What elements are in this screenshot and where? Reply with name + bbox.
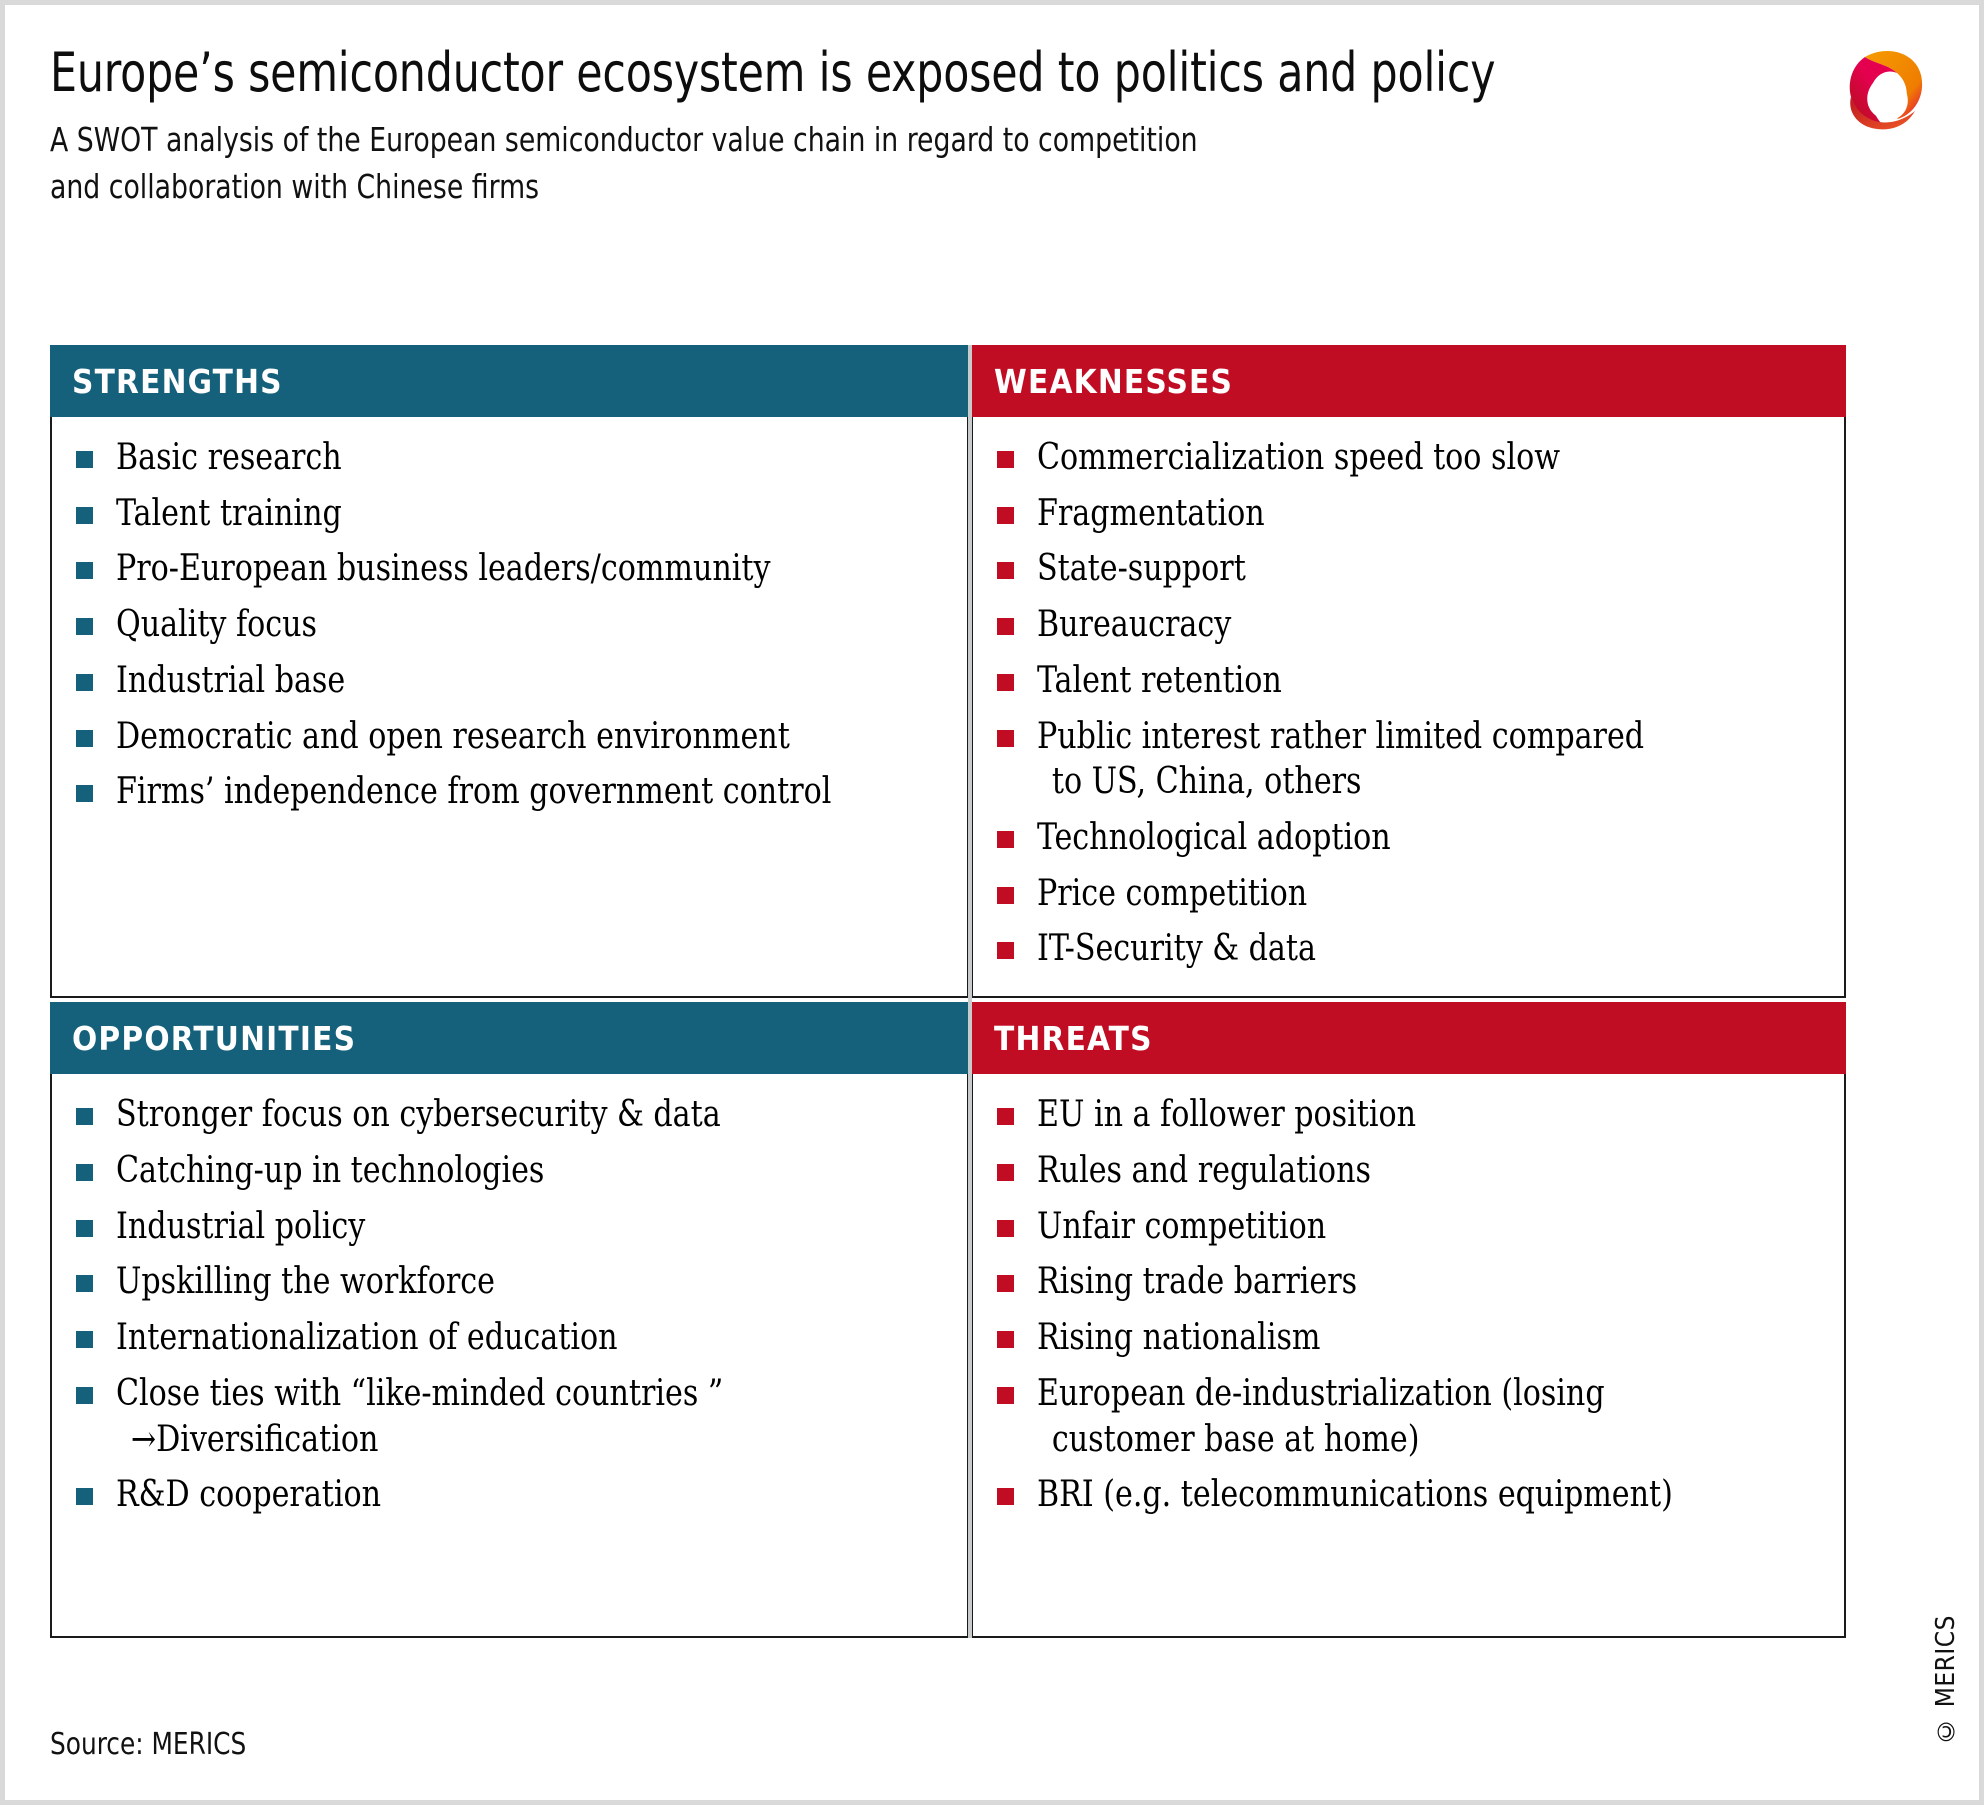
list-item-label: Talent training — [116, 491, 893, 537]
list-item-label: Firms’ independence from government cont… — [116, 769, 893, 815]
square-bullet-icon — [76, 1108, 93, 1125]
quadrant-strengths: STRENGTHS Basic research Talent training… — [50, 345, 968, 998]
square-bullet-icon — [997, 942, 1014, 959]
list-item: BRI (e.g. telecommunications equipment) — [993, 1472, 1828, 1518]
list-item: Quality focus — [72, 602, 951, 648]
threats-list: EU in a follower position Rules and regu… — [993, 1092, 1828, 1518]
list-item-line-1: Close ties with “like-minded countries ” — [116, 1373, 723, 1414]
square-bullet-icon — [76, 1164, 93, 1181]
list-item: Firms’ independence from government cont… — [72, 769, 951, 815]
weaknesses-list: Commercialization speed too slow Fragmen… — [993, 435, 1828, 972]
list-item-label: Rising trade barriers — [1037, 1259, 1773, 1305]
list-item: Catching-up in technologies — [72, 1148, 951, 1194]
list-item-label: Close ties with “like-minded countries ”… — [116, 1371, 893, 1462]
quadrant-weaknesses: WEAKNESSES Commercialization speed too s… — [972, 345, 1846, 998]
quadrant-header-weaknesses: WEAKNESSES — [972, 345, 1846, 417]
merics-logo-icon — [1831, 41, 1939, 141]
list-item: Rising nationalism — [993, 1315, 1828, 1361]
list-item-label: Pro-European business leaders/community — [116, 546, 893, 592]
list-item-line-1: Public interest rather limited compared — [1037, 716, 1644, 757]
list-item: Fragmentation — [993, 491, 1828, 537]
list-item: Stronger focus on cybersecurity & data — [72, 1092, 951, 1138]
square-bullet-icon — [76, 674, 93, 691]
list-item-label: Rules and regulations — [1037, 1148, 1773, 1194]
list-item-label: Basic research — [116, 435, 893, 481]
infographic-page: Europe’s semiconductor ecosystem is expo… — [0, 0, 1984, 1805]
square-bullet-icon — [76, 1488, 93, 1505]
list-item: European de-industrialization (losingcus… — [993, 1371, 1828, 1462]
list-item: Upskilling the workforce — [72, 1259, 951, 1305]
square-bullet-icon — [76, 1387, 93, 1404]
list-item: IT-Security & data — [993, 926, 1828, 972]
square-bullet-icon — [997, 674, 1014, 691]
list-item: Rules and regulations — [993, 1148, 1828, 1194]
list-item-label: Technological adoption — [1037, 815, 1773, 861]
square-bullet-icon — [76, 785, 93, 802]
square-bullet-icon — [997, 831, 1014, 848]
list-item-label: Democratic and open research environment — [116, 714, 893, 760]
list-item-label: EU in a follower position — [1037, 1092, 1773, 1138]
square-bullet-icon — [997, 507, 1014, 524]
square-bullet-icon — [997, 562, 1014, 579]
square-bullet-icon — [76, 618, 93, 635]
list-item: Public interest rather limited comparedt… — [993, 714, 1828, 805]
list-item-label: R&D cooperation — [116, 1472, 893, 1518]
list-item: Talent training — [72, 491, 951, 537]
square-bullet-icon — [997, 1387, 1014, 1404]
list-item-label: Unfair competition — [1037, 1204, 1773, 1250]
list-item-label: BRI (e.g. telecommunications equipment) — [1037, 1472, 1773, 1518]
square-bullet-icon — [76, 451, 93, 468]
list-item: Industrial base — [72, 658, 951, 704]
list-item-label: Fragmentation — [1037, 491, 1773, 537]
page-header: Europe’s semiconductor ecosystem is expo… — [50, 43, 1850, 211]
list-item-label: Public interest rather limited comparedt… — [1037, 714, 1773, 805]
list-item-label: Talent retention — [1037, 658, 1773, 704]
list-item-label: Commercialization speed too slow — [1037, 435, 1773, 481]
list-item: Industrial policy — [72, 1204, 951, 1250]
square-bullet-icon — [76, 1275, 93, 1292]
list-item: Unfair competition — [993, 1204, 1828, 1250]
list-item: Talent retention — [993, 658, 1828, 704]
square-bullet-icon — [997, 887, 1014, 904]
list-item: Pro-European business leaders/community — [72, 546, 951, 592]
square-bullet-icon — [997, 1275, 1014, 1292]
source-note: Source: MERICS — [50, 1727, 246, 1762]
square-bullet-icon — [997, 1164, 1014, 1181]
opportunities-list: Stronger focus on cybersecurity & data C… — [72, 1092, 951, 1518]
square-bullet-icon — [76, 562, 93, 579]
list-item: EU in a follower position — [993, 1092, 1828, 1138]
list-item: Close ties with “like-minded countries ”… — [72, 1371, 951, 1462]
list-item-label: Rising nationalism — [1037, 1315, 1773, 1361]
quadrant-header-strengths: STRENGTHS — [50, 345, 968, 417]
page-subtitle-line-1: A SWOT analysis of the European semicond… — [50, 117, 1670, 164]
list-item: Rising trade barriers — [993, 1259, 1828, 1305]
list-item-label: Bureaucracy — [1037, 602, 1773, 648]
quadrant-opportunities: OPPORTUNITIES Stronger focus on cybersec… — [50, 1002, 968, 1638]
list-item-label: Internationalization of education — [116, 1315, 893, 1361]
quadrant-body-threats: EU in a follower position Rules and regu… — [972, 1074, 1846, 1638]
list-item: Technological adoption — [993, 815, 1828, 861]
list-item-label: Industrial policy — [116, 1204, 893, 1250]
square-bullet-icon — [997, 1108, 1014, 1125]
square-bullet-icon — [997, 1488, 1014, 1505]
list-item-label: Upskilling the workforce — [116, 1259, 893, 1305]
strengths-list: Basic research Talent training Pro-Europ… — [72, 435, 951, 815]
square-bullet-icon — [997, 1331, 1014, 1348]
list-item: R&D cooperation — [72, 1472, 951, 1518]
list-item: Democratic and open research environment — [72, 714, 951, 760]
quadrant-threats: THREATS EU in a follower position Rules … — [972, 1002, 1846, 1638]
list-item-label: Quality focus — [116, 602, 893, 648]
list-item-label: Stronger focus on cybersecurity & data — [116, 1092, 893, 1138]
list-item-label: Catching-up in technologies — [116, 1148, 893, 1194]
list-item: State-support — [993, 546, 1828, 592]
list-item-label: State-support — [1037, 546, 1773, 592]
list-item-line-2: →Diversification — [116, 1417, 893, 1463]
quadrant-header-threats: THREATS — [972, 1002, 1846, 1074]
list-item: Bureaucracy — [993, 602, 1828, 648]
swot-grid: STRENGTHS Basic research Talent training… — [50, 345, 1846, 1638]
quadrant-header-opportunities: OPPORTUNITIES — [50, 1002, 968, 1074]
square-bullet-icon — [76, 730, 93, 747]
quadrant-body-opportunities: Stronger focus on cybersecurity & data C… — [50, 1074, 968, 1638]
list-item-line-2: customer base at home) — [1037, 1417, 1773, 1463]
list-item: Commercialization speed too slow — [993, 435, 1828, 481]
list-item: Basic research — [72, 435, 951, 481]
square-bullet-icon — [997, 618, 1014, 635]
list-item: Internationalization of education — [72, 1315, 951, 1361]
page-title: Europe’s semiconductor ecosystem is expo… — [50, 43, 1634, 103]
list-item: Price competition — [993, 871, 1828, 917]
square-bullet-icon — [76, 507, 93, 524]
quadrant-body-weaknesses: Commercialization speed too slow Fragmen… — [972, 417, 1846, 998]
list-item-label: Price competition — [1037, 871, 1773, 917]
list-item-line-1: European de-industrialization (losing — [1037, 1373, 1605, 1414]
list-item-label: European de-industrialization (losingcus… — [1037, 1371, 1773, 1462]
copyright-note: © MERICS — [1931, 1615, 1961, 1746]
page-subtitle: A SWOT analysis of the European semicond… — [50, 117, 1670, 211]
page-subtitle-line-2: and collaboration with Chinese firms — [50, 164, 1670, 211]
square-bullet-icon — [997, 1220, 1014, 1237]
square-bullet-icon — [997, 451, 1014, 468]
list-item-line-2: to US, China, others — [1037, 759, 1773, 805]
list-item-label: Industrial base — [116, 658, 893, 704]
list-item-label: IT-Security & data — [1037, 926, 1773, 972]
square-bullet-icon — [76, 1220, 93, 1237]
square-bullet-icon — [997, 730, 1014, 747]
quadrant-body-strengths: Basic research Talent training Pro-Europ… — [50, 417, 968, 998]
square-bullet-icon — [76, 1331, 93, 1348]
